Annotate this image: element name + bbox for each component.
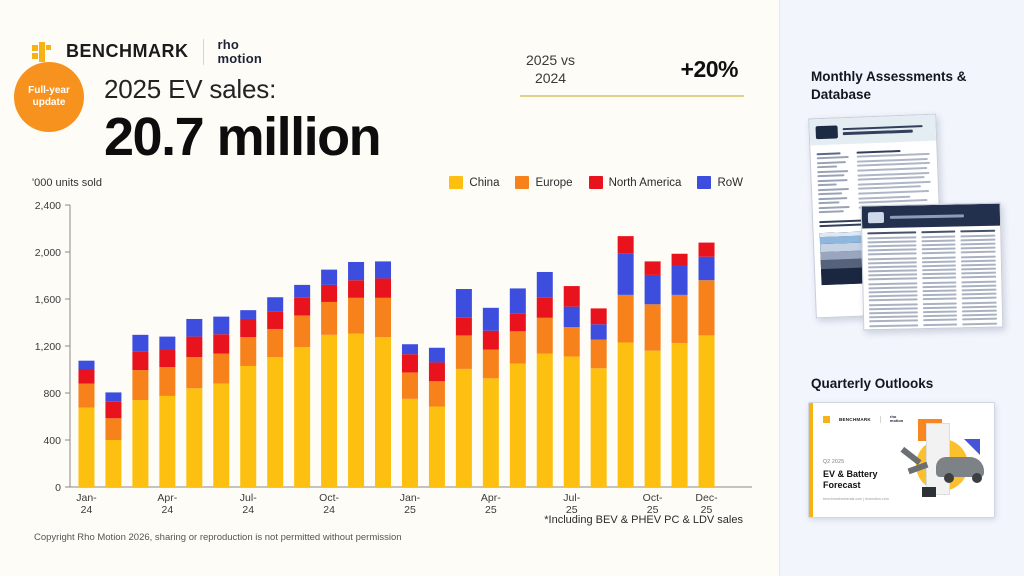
table-cell xyxy=(923,310,958,313)
bar-segment-row xyxy=(618,254,634,295)
bar-segment-row xyxy=(456,289,472,318)
table-cell xyxy=(869,299,918,302)
database-table-sheet xyxy=(861,203,1004,331)
bar-Dec-24[interactable] xyxy=(375,261,391,487)
bar-Aug-24[interactable] xyxy=(267,297,283,487)
bar-Apr-25[interactable] xyxy=(483,308,499,487)
bar-segment-europe xyxy=(429,381,445,406)
main-panel: BENCHMARK rho motion Full-year update 20… xyxy=(0,0,779,576)
bar-segment-europe xyxy=(537,318,553,354)
table-cell xyxy=(868,248,917,251)
table-cell xyxy=(867,240,916,243)
table-cell xyxy=(922,294,957,297)
table-cell xyxy=(962,314,997,317)
bar-segment-china xyxy=(78,408,94,487)
table-cell xyxy=(868,286,917,289)
bar-segment-north-america xyxy=(645,261,661,275)
y-axis-tick-label: 2,400 xyxy=(35,200,61,212)
brand-lockup: BENCHMARK rho motion xyxy=(32,38,262,65)
bar-segment-europe xyxy=(78,384,94,408)
bar-segment-north-america xyxy=(267,311,283,329)
report-rho-logo-icon xyxy=(815,125,837,139)
database-table xyxy=(862,226,1003,331)
table-cell xyxy=(922,306,957,309)
full-year-update-badge: Full-year update xyxy=(14,62,84,132)
x-axis-tick-label: 24 xyxy=(162,504,174,516)
table-cell xyxy=(921,252,956,255)
legend-item-north-america[interactable]: North America xyxy=(589,176,682,189)
bar-segment-row xyxy=(672,266,688,295)
y-axis-tick-label: 800 xyxy=(43,388,61,400)
bar-segment-row xyxy=(294,285,310,298)
bar-segment-europe xyxy=(699,280,715,335)
table-cell xyxy=(868,274,917,277)
bar-segment-north-america xyxy=(186,337,202,358)
chart-units-label: '000 units sold xyxy=(32,177,102,189)
yoy-stat-rule xyxy=(520,95,744,97)
bar-segment-china xyxy=(483,378,499,487)
bar-Mar-25[interactable] xyxy=(456,289,472,487)
x-axis-tick-label: 24 xyxy=(81,504,93,516)
table-cell xyxy=(922,302,957,305)
slide-root: BENCHMARK rho motion Full-year update 20… xyxy=(0,0,1024,576)
bar-Nov-25[interactable] xyxy=(672,254,688,487)
bar-segment-europe xyxy=(564,327,580,356)
bar-Feb-24[interactable] xyxy=(105,392,121,487)
bar-segment-north-america xyxy=(591,308,607,324)
slide-brand-divider xyxy=(880,416,881,423)
copyright-text: Copyright Rho Motion 2026, sharing or re… xyxy=(34,532,402,543)
bar-segment-china xyxy=(213,384,229,487)
table-cell xyxy=(921,230,956,233)
bar-segment-row xyxy=(375,261,391,278)
x-axis-tick-label: Apr- xyxy=(157,492,177,504)
bar-segment-north-america xyxy=(618,236,634,254)
rho-line-1: rho xyxy=(218,38,263,52)
sidebar-panel: Monthly Assessments & Database xyxy=(779,0,1024,576)
legend-item-row[interactable]: RoW xyxy=(697,176,743,189)
chart-footnote: *Including BEV & PHEV PC & LDV sales xyxy=(544,514,743,526)
y-axis-tick-label: 1,600 xyxy=(35,294,61,306)
report-heading-lines xyxy=(843,122,930,136)
bar-segment-north-america xyxy=(483,331,499,350)
bar-segment-europe xyxy=(375,298,391,337)
yoy-label-line-1: 2025 vs xyxy=(526,52,575,70)
table-cell xyxy=(922,298,957,301)
bar-segment-north-america xyxy=(132,351,148,370)
bar-Jun-25[interactable] xyxy=(537,272,553,487)
bar-segment-europe xyxy=(240,337,256,366)
table-cell xyxy=(867,231,916,234)
bar-segment-china xyxy=(159,396,175,487)
benchmark-logo-icon xyxy=(32,42,52,62)
bar-segment-row xyxy=(159,337,175,350)
bar-Apr-24[interactable] xyxy=(159,337,175,487)
table-cell xyxy=(961,234,996,237)
bar-segment-europe xyxy=(456,335,472,368)
database-header xyxy=(862,204,1000,229)
bar-segment-north-america xyxy=(78,370,94,384)
table-cell xyxy=(962,301,997,304)
table-cell xyxy=(922,290,957,293)
table-cell xyxy=(921,235,956,238)
bar-Dec-25[interactable] xyxy=(699,243,715,487)
bar-Sep-25[interactable] xyxy=(618,236,634,487)
table-cell xyxy=(962,297,997,300)
bar-segment-europe xyxy=(159,367,175,396)
bar-segment-china xyxy=(645,351,661,487)
rho-line-2: motion xyxy=(218,52,263,66)
bar-segment-row xyxy=(591,324,607,339)
table-cell xyxy=(869,320,918,323)
x-axis-tick-label: Apr- xyxy=(481,492,501,504)
bar-Oct-24[interactable] xyxy=(321,270,337,487)
y-axis-tick-label: 2,000 xyxy=(35,247,61,259)
table-cell xyxy=(961,255,996,258)
bar-segment-china xyxy=(294,347,310,487)
bar-segment-row xyxy=(564,307,580,328)
x-axis-tick-label: Oct- xyxy=(643,492,663,504)
bar-segment-china xyxy=(321,335,337,487)
table-cell xyxy=(869,311,918,314)
report-contents-column xyxy=(816,149,852,216)
bar-segment-north-america xyxy=(456,318,472,336)
bar-Nov-24[interactable] xyxy=(348,262,364,487)
bar-segment-china xyxy=(402,399,418,487)
chart-legend: ChinaEuropeNorth AmericaRoW xyxy=(449,176,743,189)
slide-accent-rail xyxy=(809,403,813,517)
table-cell xyxy=(869,303,918,306)
table-cell xyxy=(868,265,917,268)
bar-segment-row xyxy=(240,310,256,319)
table-cell xyxy=(962,310,997,313)
table-cell xyxy=(868,257,917,260)
table-cell xyxy=(923,315,958,318)
bar-segment-europe xyxy=(591,340,607,369)
bar-segment-europe xyxy=(510,331,526,363)
bar-May-24[interactable] xyxy=(186,319,202,487)
table-cell xyxy=(921,239,956,242)
table-cell xyxy=(962,318,997,321)
badge-line-1: Full-year xyxy=(28,85,70,98)
headline-block: 2025 EV sales: 20.7 million xyxy=(104,74,380,166)
legend-swatch-icon xyxy=(449,176,463,189)
table-cell xyxy=(868,244,917,247)
x-axis-tick-label: 25 xyxy=(485,504,497,516)
bar-segment-europe xyxy=(483,350,499,379)
rho-motion-logo: rho motion xyxy=(218,38,263,65)
bar-segment-europe xyxy=(105,418,121,440)
table-cell xyxy=(962,305,997,308)
legend-label: China xyxy=(469,177,499,189)
legend-label: North America xyxy=(609,177,682,189)
badge-line-2: update xyxy=(33,97,66,110)
bar-segment-north-america xyxy=(213,334,229,353)
table-cell xyxy=(868,282,917,285)
bar-segment-row xyxy=(699,257,715,281)
x-axis-tick-label: Jul- xyxy=(563,492,580,504)
bar-segment-row xyxy=(186,319,202,337)
bar-segment-china xyxy=(105,440,121,487)
bar-segment-row xyxy=(429,348,445,363)
table-cell xyxy=(963,326,998,329)
bar-segment-row xyxy=(402,344,418,354)
bar-segment-china xyxy=(429,407,445,487)
x-axis-tick-label: Jul- xyxy=(240,492,257,504)
table-cell xyxy=(962,322,997,325)
bar-segment-row xyxy=(645,275,661,304)
quarterly-outlook-thumbnail[interactable]: BENCHMARK rho motion Q2 2025 EV & Batter… xyxy=(808,402,995,518)
bar-segment-row xyxy=(132,335,148,351)
table-cell xyxy=(962,284,997,287)
slide-title-line-1: EV & Battery xyxy=(823,469,878,480)
bar-May-25[interactable] xyxy=(510,288,526,487)
bar-segment-europe xyxy=(321,302,337,335)
bar-segment-north-america xyxy=(510,314,526,332)
table-cell xyxy=(869,324,918,327)
yoy-stat-block: 2025 vs 2024 +20% xyxy=(520,52,744,97)
benchmark-wordmark: BENCHMARK xyxy=(66,41,189,62)
table-cell xyxy=(921,260,956,263)
table-cell xyxy=(962,293,997,296)
table-cell xyxy=(922,285,957,288)
bar-segment-north-america xyxy=(321,285,337,302)
bar-segment-china xyxy=(348,334,364,487)
table-cell xyxy=(922,273,957,276)
slide-title-line-2: Forecast xyxy=(823,480,878,491)
bar-segment-china xyxy=(240,366,256,487)
slide-title: EV & Battery Forecast xyxy=(823,469,878,492)
bar-Jul-24[interactable] xyxy=(240,310,256,487)
x-axis-tick-label: 24 xyxy=(242,504,254,516)
legend-label: Europe xyxy=(535,177,572,189)
bar-segment-north-america xyxy=(402,354,418,372)
bar-Mar-24[interactable] xyxy=(132,335,148,487)
bar-Jan-25[interactable] xyxy=(402,344,418,487)
bar-segment-europe xyxy=(618,295,634,343)
x-axis-tick-label: 24 xyxy=(323,504,335,516)
bar-Aug-25[interactable] xyxy=(591,308,607,487)
table-cell xyxy=(868,269,917,272)
legend-item-europe[interactable]: Europe xyxy=(515,176,572,189)
table-cell xyxy=(921,243,956,246)
table-cell xyxy=(868,253,917,256)
headline-subtitle: 2025 EV sales: xyxy=(104,74,380,105)
bar-segment-row xyxy=(321,270,337,285)
table-cell xyxy=(922,269,957,272)
database-rho-logo-icon xyxy=(868,211,884,222)
bar-segment-row xyxy=(348,262,364,280)
y-axis-tick-label: 400 xyxy=(43,435,61,447)
slide-url: benchmarkminerals.com | rhomotion.com xyxy=(823,497,889,501)
slide-benchmark-wordmark: BENCHMARK xyxy=(839,417,871,422)
table-row xyxy=(869,326,997,330)
table-cell xyxy=(869,328,918,330)
x-axis-tick-label: Jan- xyxy=(400,492,421,504)
bar-segment-north-america xyxy=(537,297,553,318)
table-cell xyxy=(867,236,916,239)
table-cell xyxy=(961,259,996,262)
table-cell xyxy=(961,230,996,233)
bar-Sep-24[interactable] xyxy=(294,285,310,487)
legend-swatch-icon xyxy=(515,176,529,189)
bar-segment-china xyxy=(510,364,526,487)
table-cell xyxy=(869,307,918,310)
table-cell xyxy=(922,277,957,280)
bar-segment-row xyxy=(537,272,553,297)
bar-segment-row xyxy=(483,308,499,331)
bar-segment-europe xyxy=(267,329,283,357)
bar-segment-china xyxy=(456,369,472,487)
table-cell xyxy=(869,295,918,298)
bar-segment-north-america xyxy=(699,243,715,257)
table-cell xyxy=(868,261,917,264)
slide-artwork-icon xyxy=(892,413,988,511)
legend-item-china[interactable]: China xyxy=(449,176,499,189)
sidebar-section-title-quarterly: Quarterly Outlooks xyxy=(811,375,1001,393)
table-cell xyxy=(961,272,996,275)
bar-segment-china xyxy=(267,357,283,487)
bar-segment-europe xyxy=(645,304,661,350)
legend-swatch-icon xyxy=(589,176,603,189)
bar-Jun-24[interactable] xyxy=(213,317,229,487)
table-cell xyxy=(923,323,958,326)
bar-segment-europe xyxy=(672,295,688,343)
bar-Feb-25[interactable] xyxy=(429,348,445,487)
bar-segment-north-america xyxy=(564,286,580,307)
bar-segment-row xyxy=(267,297,283,311)
bar-segment-row xyxy=(213,317,229,335)
yoy-label-line-2: 2024 xyxy=(526,70,575,88)
table-cell xyxy=(961,268,996,271)
table-cell xyxy=(868,278,917,281)
bar-segment-north-america xyxy=(240,319,256,337)
bar-segment-europe xyxy=(186,357,202,388)
bar-Oct-25[interactable] xyxy=(645,261,661,487)
table-cell xyxy=(962,276,997,279)
table-cell xyxy=(962,289,997,292)
bar-Jan-24[interactable] xyxy=(78,361,94,487)
table-cell xyxy=(921,256,956,259)
legend-label: RoW xyxy=(717,177,743,189)
bar-segment-north-america xyxy=(375,278,391,297)
slide-quarter-label: Q2 2025 xyxy=(823,459,844,465)
table-cell xyxy=(961,247,996,250)
bar-segment-china xyxy=(564,357,580,487)
database-title-line xyxy=(890,214,964,219)
headline-value: 20.7 million xyxy=(104,109,380,166)
bar-segment-north-america xyxy=(672,254,688,266)
sidebar-section-title-monthly: Monthly Assessments & Database xyxy=(811,68,1001,103)
table-cell xyxy=(961,243,996,246)
table-cell xyxy=(961,251,996,254)
bar-segment-china xyxy=(672,343,688,487)
table-cell xyxy=(923,327,958,330)
y-axis-tick-label: 0 xyxy=(55,482,61,494)
bar-segment-europe xyxy=(213,354,229,384)
bar-Jul-25[interactable] xyxy=(564,286,580,487)
bar-segment-north-america xyxy=(159,350,175,368)
bar-segment-row xyxy=(105,392,121,401)
bar-segment-china xyxy=(375,337,391,487)
table-cell xyxy=(923,319,958,322)
x-axis-tick-label: 25 xyxy=(404,504,416,516)
bar-segment-europe xyxy=(132,370,148,400)
legend-swatch-icon xyxy=(697,176,711,189)
table-cell xyxy=(922,281,957,284)
bar-segment-europe xyxy=(294,315,310,347)
table-cell xyxy=(921,248,956,251)
bar-segment-china xyxy=(186,388,202,487)
bar-segment-europe xyxy=(348,298,364,334)
bar-segment-north-america xyxy=(429,362,445,381)
bar-segment-europe xyxy=(402,372,418,398)
table-cell xyxy=(961,238,996,241)
x-axis-tick-label: Jan- xyxy=(76,492,97,504)
bar-segment-china xyxy=(591,368,607,487)
table-cell xyxy=(961,264,996,267)
table-cell xyxy=(922,264,957,267)
bar-segment-row xyxy=(510,288,526,313)
bar-segment-china xyxy=(699,335,715,487)
brand-divider xyxy=(203,39,204,65)
monthly-assessment-thumbnail[interactable] xyxy=(808,112,1004,357)
bar-segment-china xyxy=(132,400,148,487)
table-cell xyxy=(869,315,918,318)
yoy-stat-value: +20% xyxy=(681,56,738,83)
bar-segment-north-america xyxy=(294,298,310,316)
y-axis-tick-label: 1,200 xyxy=(35,341,61,353)
bar-segment-north-america xyxy=(348,280,364,298)
bar-segment-china xyxy=(618,342,634,487)
table-cell xyxy=(869,290,918,293)
x-axis-tick-label: Oct- xyxy=(319,492,339,504)
bar-segment-china xyxy=(537,354,553,487)
table-cell xyxy=(962,280,997,283)
x-axis-tick-label: Dec- xyxy=(695,492,718,504)
yoy-stat-label: 2025 vs 2024 xyxy=(526,52,575,87)
slide-benchmark-logo-icon xyxy=(823,416,830,423)
bar-segment-north-america xyxy=(105,402,121,418)
bar-segment-row xyxy=(78,361,94,370)
